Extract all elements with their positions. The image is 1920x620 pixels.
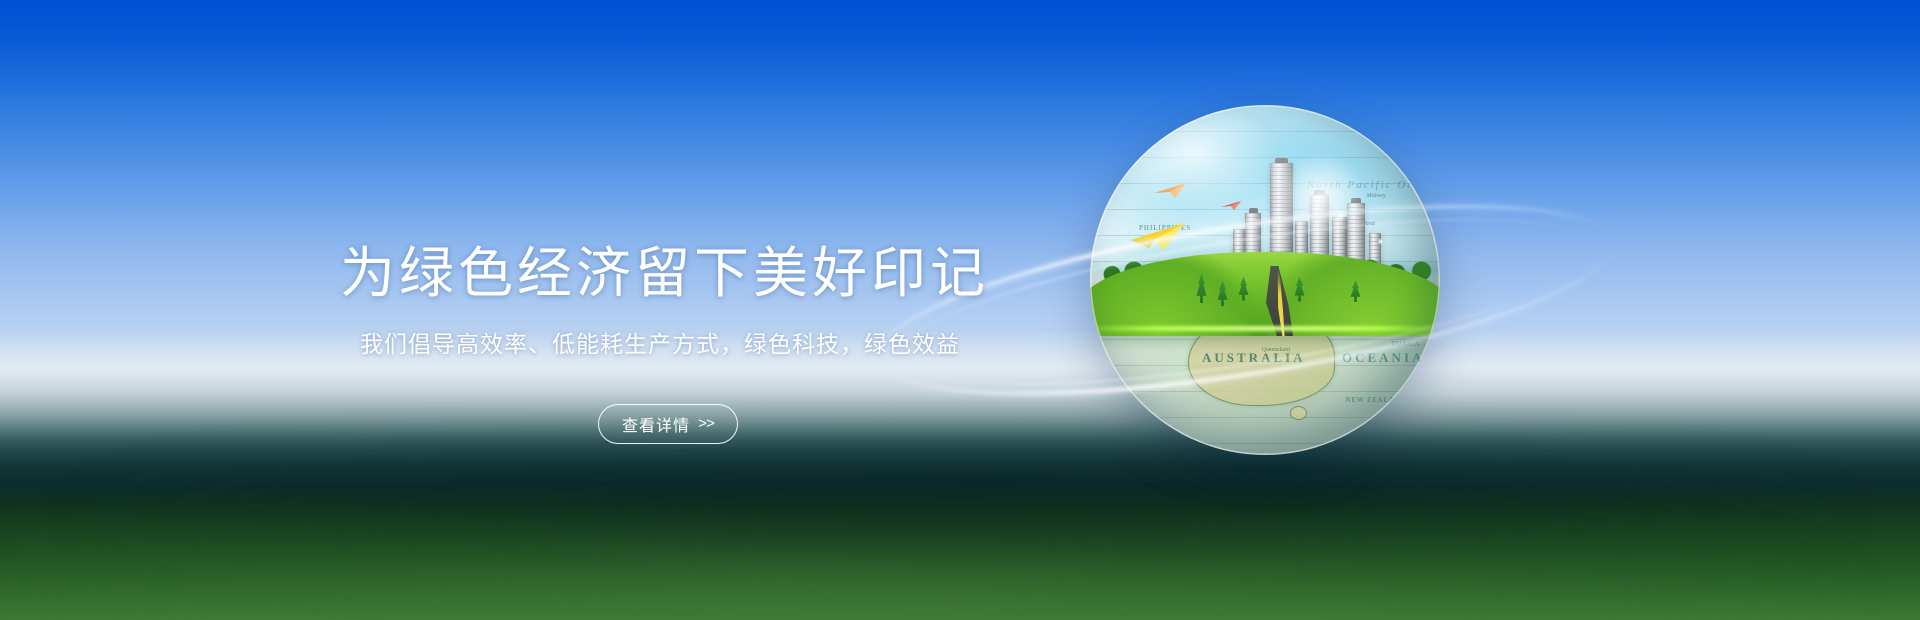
new-zealand-landmass	[1380, 405, 1413, 438]
horizon-haze	[0, 330, 1920, 440]
green-hill-landscape	[1090, 252, 1440, 336]
map-label-oceania: OCEANIA	[1342, 350, 1424, 366]
chevron-right-double-icon: >>	[698, 416, 714, 433]
hero-banner: North Pacific Ocean AUSTRALIA OCEANIA IN…	[0, 0, 1920, 620]
ground-blur-dark	[0, 455, 1920, 575]
globe-illustration: North Pacific Ocean AUSTRALIA OCEANIA IN…	[1090, 105, 1440, 455]
view-details-label: 查看详情	[622, 412, 690, 436]
tasmania-landmass	[1290, 406, 1308, 420]
paper-plane-yellow-icon	[1129, 221, 1187, 251]
page-title: 为绿色经济留下美好印记	[340, 228, 989, 308]
map-label-tonga: TONGA	[1391, 340, 1420, 348]
sparkle	[1377, 238, 1384, 245]
paper-plane-red-icon	[1220, 200, 1242, 211]
banner-copy: 为绿色经济留下美好印记 我们倡导高效率、低能耗生产方式，绿色科技，绿色效益	[0, 0, 1080, 620]
page-subtitle: 我们倡导高效率、低能耗生产方式，绿色科技，绿色效益	[360, 325, 960, 359]
view-details-button[interactable]: 查看详情 >>	[598, 404, 738, 444]
map-label-new-zealand: NEW ZEALAND	[1346, 396, 1408, 404]
map-label-queensland: Queensland	[1262, 347, 1290, 353]
globe-sphere: North Pacific Ocean AUSTRALIA OCEANIA IN…	[1090, 105, 1440, 455]
land-glow-edge	[1090, 326, 1440, 331]
ground-blur-green	[0, 545, 1920, 620]
map-label-australia: AUSTRALIA	[1202, 350, 1306, 366]
globe-shadow	[1128, 452, 1408, 498]
paper-plane-orange-icon	[1153, 182, 1187, 199]
sparkle	[1335, 210, 1346, 221]
